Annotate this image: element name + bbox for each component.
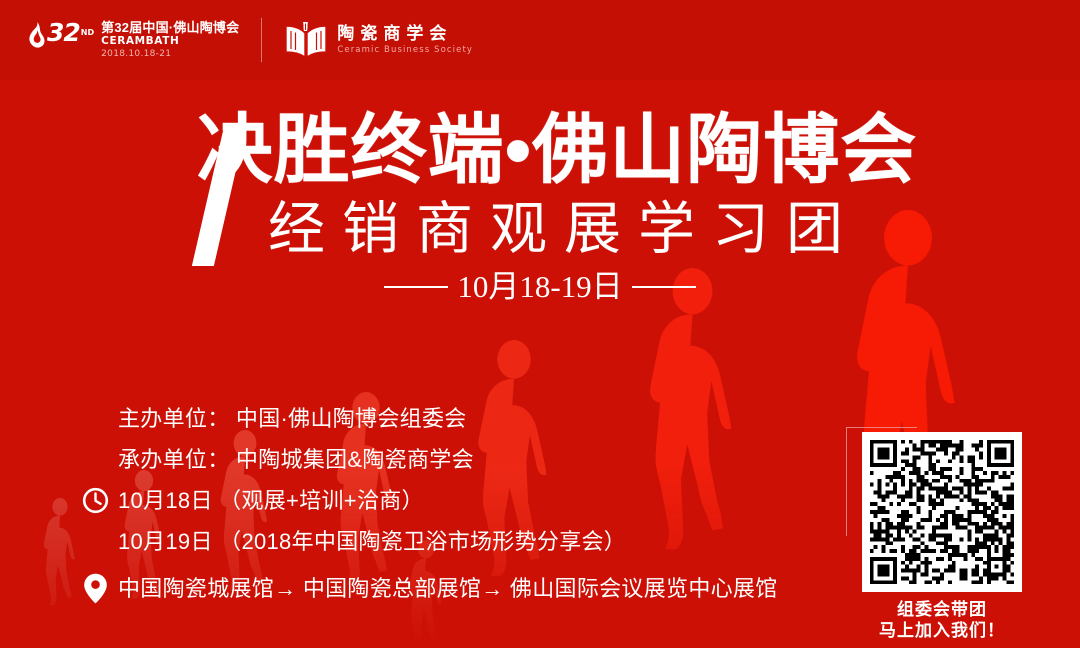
schedule-day1-text: 10月18日 （观展+培训+洽商）	[118, 480, 424, 521]
schedule-day2-text: 10月19日 （2018年中国陶瓷卫浴市场形势分享会）	[118, 521, 626, 562]
cerambath-title-cn: 第32届中国·佛山陶博会	[101, 20, 239, 35]
title-date-row: 10月18-19日	[0, 270, 1080, 304]
open-book-icon	[284, 22, 328, 58]
logo-divider	[261, 18, 262, 62]
cerambath-edition-suffix: ND	[81, 28, 94, 37]
cbs-title-cn: 陶瓷商学会	[337, 24, 473, 44]
cerambath-dates: 2018.10.18-21	[101, 48, 239, 60]
co-organizer-text: 承办单位： 中陶城集团&陶瓷商学会	[118, 439, 474, 480]
qr-caption-line1: 组委会带团	[862, 599, 1022, 620]
organizer-text: 主办单位： 中国·佛山陶博会组委会	[118, 398, 467, 439]
title-block: 决胜终端•佛山陶博会 经销商观展学习团 10月18-19日	[0, 108, 1080, 304]
page-title: 决胜终端•佛山陶博会	[34, 108, 1080, 194]
qr-block: 组委会带团 马上加入我们！	[862, 432, 1022, 641]
flame-icon	[28, 22, 45, 48]
clock-icon	[80, 486, 110, 516]
event-date: 10月18-19日	[457, 270, 622, 304]
date-rule-left	[384, 286, 448, 288]
qr-caption-line2: 马上加入我们！	[862, 620, 1022, 641]
cbs-title-en: Ceramic Business Society	[337, 44, 473, 56]
date-rule-right	[632, 286, 696, 288]
cerambath-logo[interactable]: 32ND 第32届中国·佛山陶博会 CERAMBATH 2018.10.18-2…	[28, 20, 239, 60]
cerambath-title-en: CERAMBATH	[101, 35, 239, 48]
poster-root: 32ND 第32届中国·佛山陶博会 CERAMBATH 2018.10.18-2…	[0, 0, 1080, 648]
qr-caption: 组委会带团 马上加入我们！	[862, 599, 1022, 641]
cerambath-edition-number: 32	[47, 18, 80, 47]
qr-corner-bracket-decoration	[846, 427, 917, 536]
ceramic-business-society-logo[interactable]: 陶瓷商学会 Ceramic Business Society	[284, 22, 473, 58]
location-text: 中国陶瓷城展馆→ 中国陶瓷总部展馆→ 佛山国际会议展览中心展馆	[118, 568, 778, 609]
map-pin-icon	[80, 574, 110, 604]
header-logo-row: 32ND 第32届中国·佛山陶博会 CERAMBATH 2018.10.18-2…	[28, 14, 473, 66]
